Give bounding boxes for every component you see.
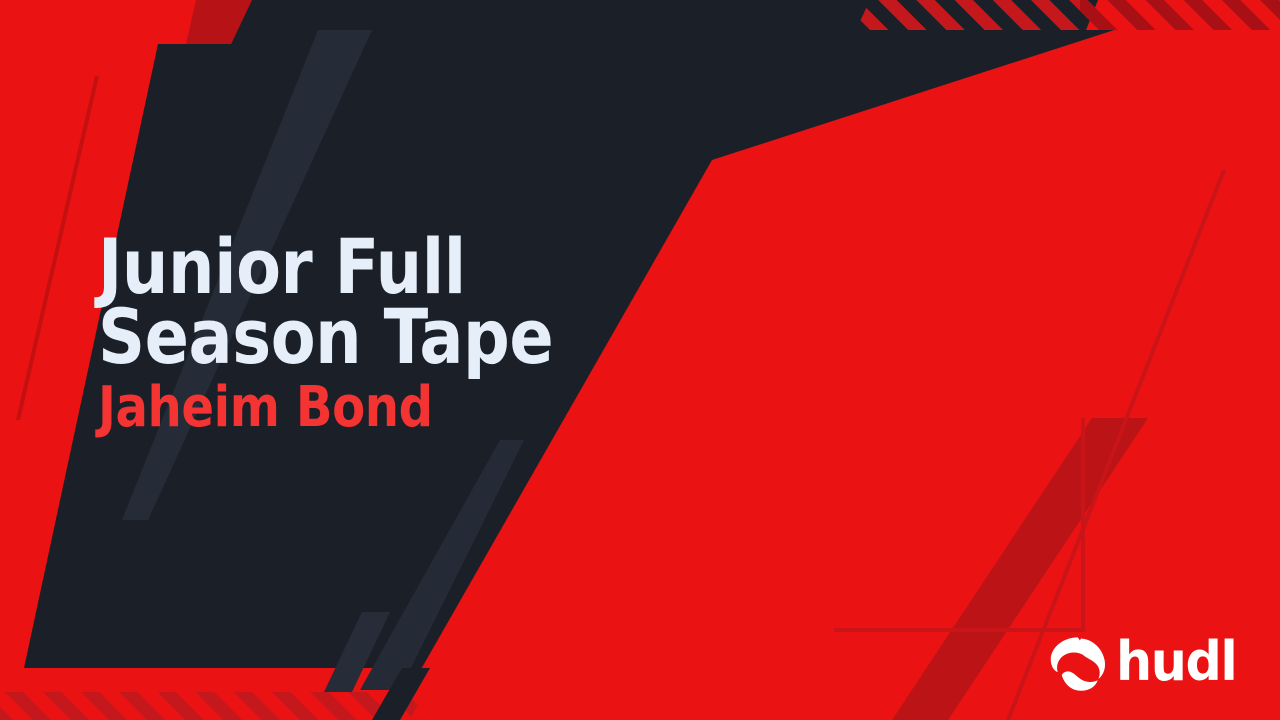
title-text-block: Junior Full Season Tape Jaheim Bond xyxy=(98,232,798,436)
hudl-wordmark: hudl xyxy=(1116,635,1236,689)
thin-red-line-horizontal xyxy=(834,628,1085,632)
athlete-name: Jaheim Bond xyxy=(98,380,700,436)
hudl-logo: hudl xyxy=(1049,636,1244,692)
page-title: Junior Full Season Tape xyxy=(98,232,700,372)
hudl-pinwheel-icon xyxy=(1049,636,1107,692)
thin-red-line-step xyxy=(1081,418,1085,632)
hudl-title-card: Junior Full Season Tape Jaheim Bond hudl xyxy=(0,0,1280,720)
